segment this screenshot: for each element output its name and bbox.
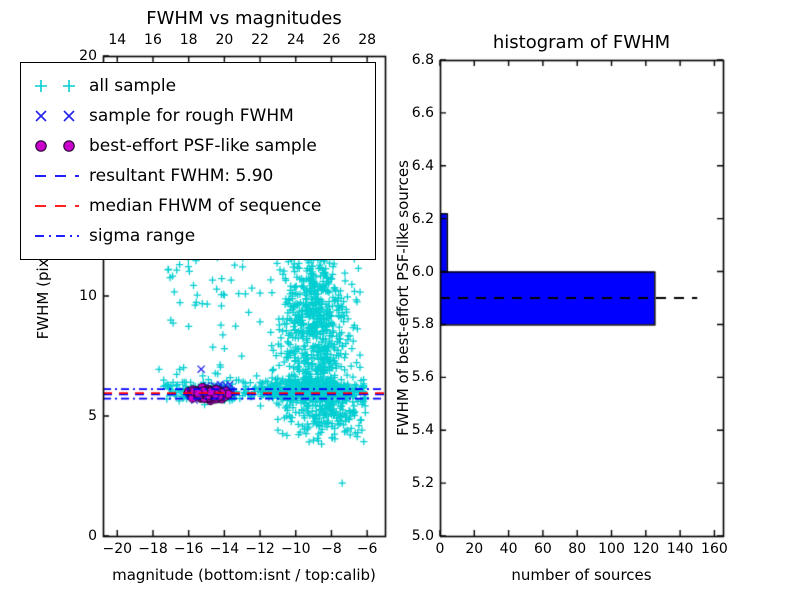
legend-label-4: median FHWM of sequence <box>89 196 321 216</box>
left-toptick-1: 16 <box>144 33 162 47</box>
left-xtick-3: −14 <box>210 542 240 556</box>
right-ytick-4: 5.8 <box>374 317 434 331</box>
legend-entry-0: all sample <box>27 71 365 101</box>
right-ytick-7: 6.4 <box>374 159 434 173</box>
right-ytick-2: 5.4 <box>374 423 434 437</box>
figure-canvas-area: FWHM vs magnitudes magnitude (bottom:isn… <box>0 0 800 600</box>
legend-marker-cross-icon <box>27 101 89 131</box>
legend-entry-2: best-effort PSF-like sample <box>27 131 365 161</box>
right-ytick-9: 6.8 <box>374 53 434 67</box>
right-ytick-1: 5.2 <box>374 476 434 490</box>
left-toptick-6: 26 <box>323 33 341 47</box>
right-ytick-6: 6.2 <box>374 212 434 226</box>
left-xtick-2: −16 <box>174 542 204 556</box>
legend-label-1: sample for rough FWHM <box>89 106 294 126</box>
right-ytick-8: 6.6 <box>374 106 434 120</box>
legend-label-5: sigma range <box>89 226 195 246</box>
legend-label-2: best-effort PSF-like sample <box>89 136 317 156</box>
legend-entry-1: sample for rough FWHM <box>27 101 365 131</box>
left-ytick-1: 5 <box>37 409 97 423</box>
legend-entry-5: sigma range <box>27 221 365 251</box>
left-toptick-4: 22 <box>251 33 269 47</box>
left-ytick-2: 10 <box>37 289 97 303</box>
right-xtick-2: 40 <box>500 542 518 556</box>
legend-marker-dashdot-icon <box>27 221 89 251</box>
legend-marker-circle-icon <box>27 131 89 161</box>
right-plot-xlabel: number of sources <box>440 568 723 583</box>
legend-marker-dashed-icon <box>27 191 89 221</box>
left-toptick-3: 20 <box>215 33 233 47</box>
legend-entry-4: median FHWM of sequence <box>27 191 365 221</box>
right-xtick-0: 0 <box>436 542 445 556</box>
left-toptick-7: 28 <box>358 33 376 47</box>
left-toptick-5: 24 <box>287 33 305 47</box>
right-xtick-3: 60 <box>534 542 552 556</box>
left-xtick-5: −10 <box>281 542 311 556</box>
legend-box: all samplesample for rough FWHMbest-effo… <box>20 62 376 260</box>
left-ytick-0: 0 <box>37 529 97 543</box>
left-xtick-6: −8 <box>321 542 342 556</box>
right-xtick-5: 100 <box>598 542 625 556</box>
left-toptick-0: 14 <box>108 33 126 47</box>
left-plot-xlabel: magnitude (bottom:isnt / top:calib) <box>103 568 385 583</box>
legend-label-0: all sample <box>89 76 176 96</box>
left-xtick-4: −12 <box>245 542 275 556</box>
left-xtick-0: −20 <box>102 542 132 556</box>
right-xtick-4: 80 <box>568 542 586 556</box>
right-ytick-3: 5.6 <box>374 370 434 384</box>
left-xtick-1: −18 <box>138 542 168 556</box>
right-plot-title: histogram of FWHM <box>440 34 723 52</box>
legend-marker-dashed-icon <box>27 161 89 191</box>
right-xtick-8: 160 <box>701 542 728 556</box>
right-ytick-0: 5.0 <box>374 529 434 543</box>
left-ytick-3: 20 <box>37 49 97 63</box>
right-plot-ylabel: FWHM of best-effort PSF-like sources <box>396 88 411 508</box>
right-xtick-6: 120 <box>632 542 659 556</box>
legend-entry-3: resultant FWHM: 5.90 <box>27 161 365 191</box>
left-plot-title: FWHM vs magnitudes <box>103 10 385 28</box>
legend-label-3: resultant FWHM: 5.90 <box>89 166 273 186</box>
right-xtick-7: 140 <box>667 542 694 556</box>
left-toptick-2: 18 <box>180 33 198 47</box>
left-xtick-7: −6 <box>357 542 378 556</box>
legend-marker-plus-icon <box>27 71 89 101</box>
right-ytick-5: 6.0 <box>374 265 434 279</box>
right-xtick-1: 20 <box>465 542 483 556</box>
